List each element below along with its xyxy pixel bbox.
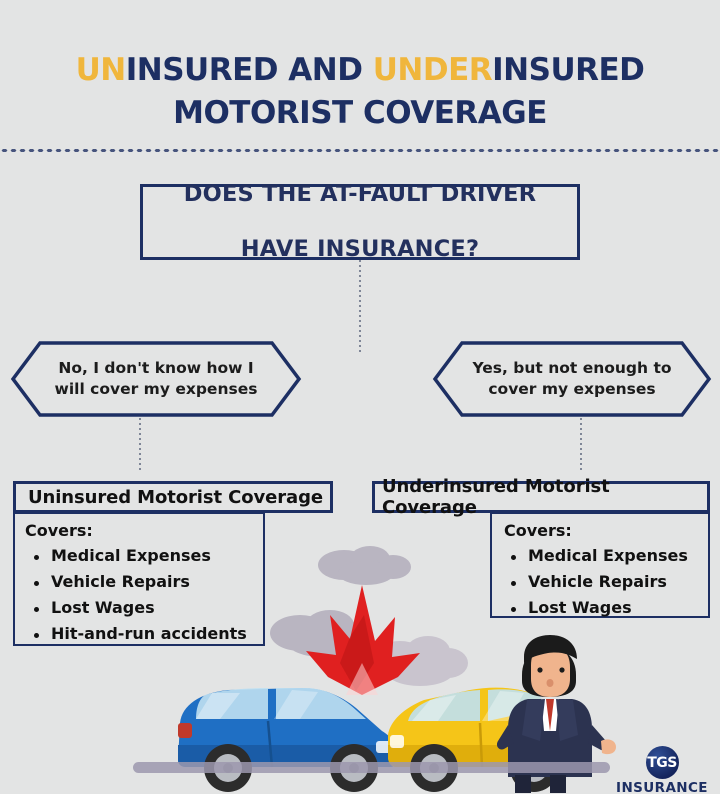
- card-title-uninsured: Uninsured Motorist Coverage: [16, 487, 330, 508]
- question-line-1: DOES THE AT-FAULT DRIVER: [184, 181, 537, 208]
- connector-right-branch: [580, 418, 582, 472]
- logo-wordmark: INSURANCE: [614, 780, 710, 794]
- answer-line-2-left: will cover my expenses: [55, 380, 258, 398]
- answer-hexagon-uninsured: No, I don't know how Iwill cover my expe…: [10, 340, 302, 418]
- title-text-insured: INSURED: [492, 52, 644, 88]
- smoke-cloud-icon: [318, 546, 411, 585]
- title-line-2: MOTORIST COVERAGE: [0, 95, 720, 132]
- answer-text-uninsured: No, I don't know how Iwill cover my expe…: [55, 358, 258, 400]
- tgs-insurance-logo: TGS INSURANCE AGENCY: [614, 746, 710, 794]
- answer-line-2-right: cover my expenses: [488, 380, 655, 398]
- car-crash-illustration: [0, 545, 720, 794]
- card-header-uninsured: Uninsured Motorist Coverage: [13, 481, 333, 513]
- title-accent-under: UNDER: [373, 52, 492, 88]
- title-accent-un: UN: [76, 52, 126, 88]
- question-text: DOES THE AT-FAULT DRIVERHAVE INSURANCE?: [184, 181, 537, 263]
- tgs-logo-mark-icon: TGS: [646, 746, 679, 779]
- title-divider: [0, 148, 720, 153]
- title-text-insured-and: INSURED AND: [126, 52, 373, 88]
- covers-label-right: Covers:: [502, 521, 698, 540]
- question-box: DOES THE AT-FAULT DRIVERHAVE INSURANCE?: [140, 184, 580, 260]
- connector-left-branch: [139, 418, 141, 472]
- infographic-canvas: UNINSURED AND UNDERINSURED MOTORIST COVE…: [0, 0, 720, 794]
- answer-hexagon-underinsured: Yes, but not enough tocover my expenses: [432, 340, 712, 418]
- answer-line-1-right: Yes, but not enough to: [472, 359, 671, 377]
- card-header-underinsured: Underinsured Motorist Coverage: [372, 481, 710, 513]
- answer-line-1-left: No, I don't know how I: [58, 359, 253, 377]
- connector-question-to-branches: [359, 260, 361, 352]
- page-title: UNINSURED AND UNDERINSURED MOTORIST COVE…: [0, 52, 720, 131]
- answer-text-underinsured: Yes, but not enough tocover my expenses: [472, 358, 671, 400]
- ground-shadow: [133, 762, 610, 773]
- title-line-1: UNINSURED AND UNDERINSURED: [0, 52, 720, 89]
- blue-car-icon: [178, 688, 398, 792]
- covers-label-left: Covers:: [25, 521, 253, 540]
